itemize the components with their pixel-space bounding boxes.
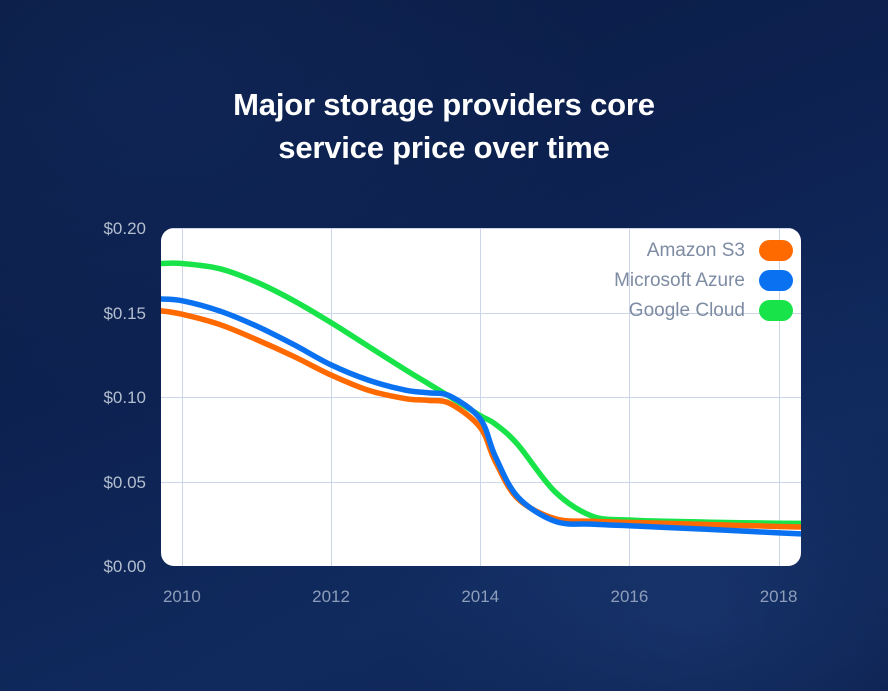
- series-line-microsoft-azure: [161, 299, 801, 534]
- x-axis-labels: 20102012201420162018: [161, 588, 801, 612]
- y-axis-tick-label: $0.15: [6, 305, 146, 322]
- x-axis-tick-label: 2016: [584, 588, 674, 605]
- title-line-1: Major storage providers core: [0, 83, 888, 126]
- legend-swatch-azure: [759, 270, 793, 291]
- legend: Amazon S3Microsoft AzureGoogle Cloud: [614, 240, 793, 321]
- legend-swatch-google: [759, 300, 793, 321]
- y-axis-labels: $0.20$0.15$0.10$0.05$0.00: [0, 228, 146, 566]
- y-axis-tick-label: $0.10: [6, 389, 146, 406]
- x-axis-tick-label: 2018: [734, 588, 824, 605]
- legend-item-label: Google Cloud: [629, 301, 745, 320]
- legend-item-label: Amazon S3: [647, 241, 745, 260]
- plot-area: Amazon S3Microsoft AzureGoogle Cloud: [161, 228, 801, 566]
- legend-item[interactable]: Amazon S3: [614, 240, 793, 261]
- legend-item[interactable]: Google Cloud: [614, 300, 793, 321]
- y-axis-tick-label: $0.20: [6, 220, 146, 237]
- y-axis-tick-label: $0.00: [6, 558, 146, 575]
- y-axis-tick-label: $0.05: [6, 474, 146, 491]
- legend-item[interactable]: Microsoft Azure: [614, 270, 793, 291]
- x-axis-tick-label: 2014: [435, 588, 525, 605]
- page-title: Major storage providers core service pri…: [0, 83, 888, 169]
- legend-swatch-amazon: [759, 240, 793, 261]
- x-axis-tick-label: 2012: [286, 588, 376, 605]
- chart-canvas: Major storage providers core service pri…: [0, 0, 888, 691]
- x-axis-tick-label: 2010: [137, 588, 227, 605]
- title-line-2: service price over time: [0, 126, 888, 169]
- legend-item-label: Microsoft Azure: [614, 271, 745, 290]
